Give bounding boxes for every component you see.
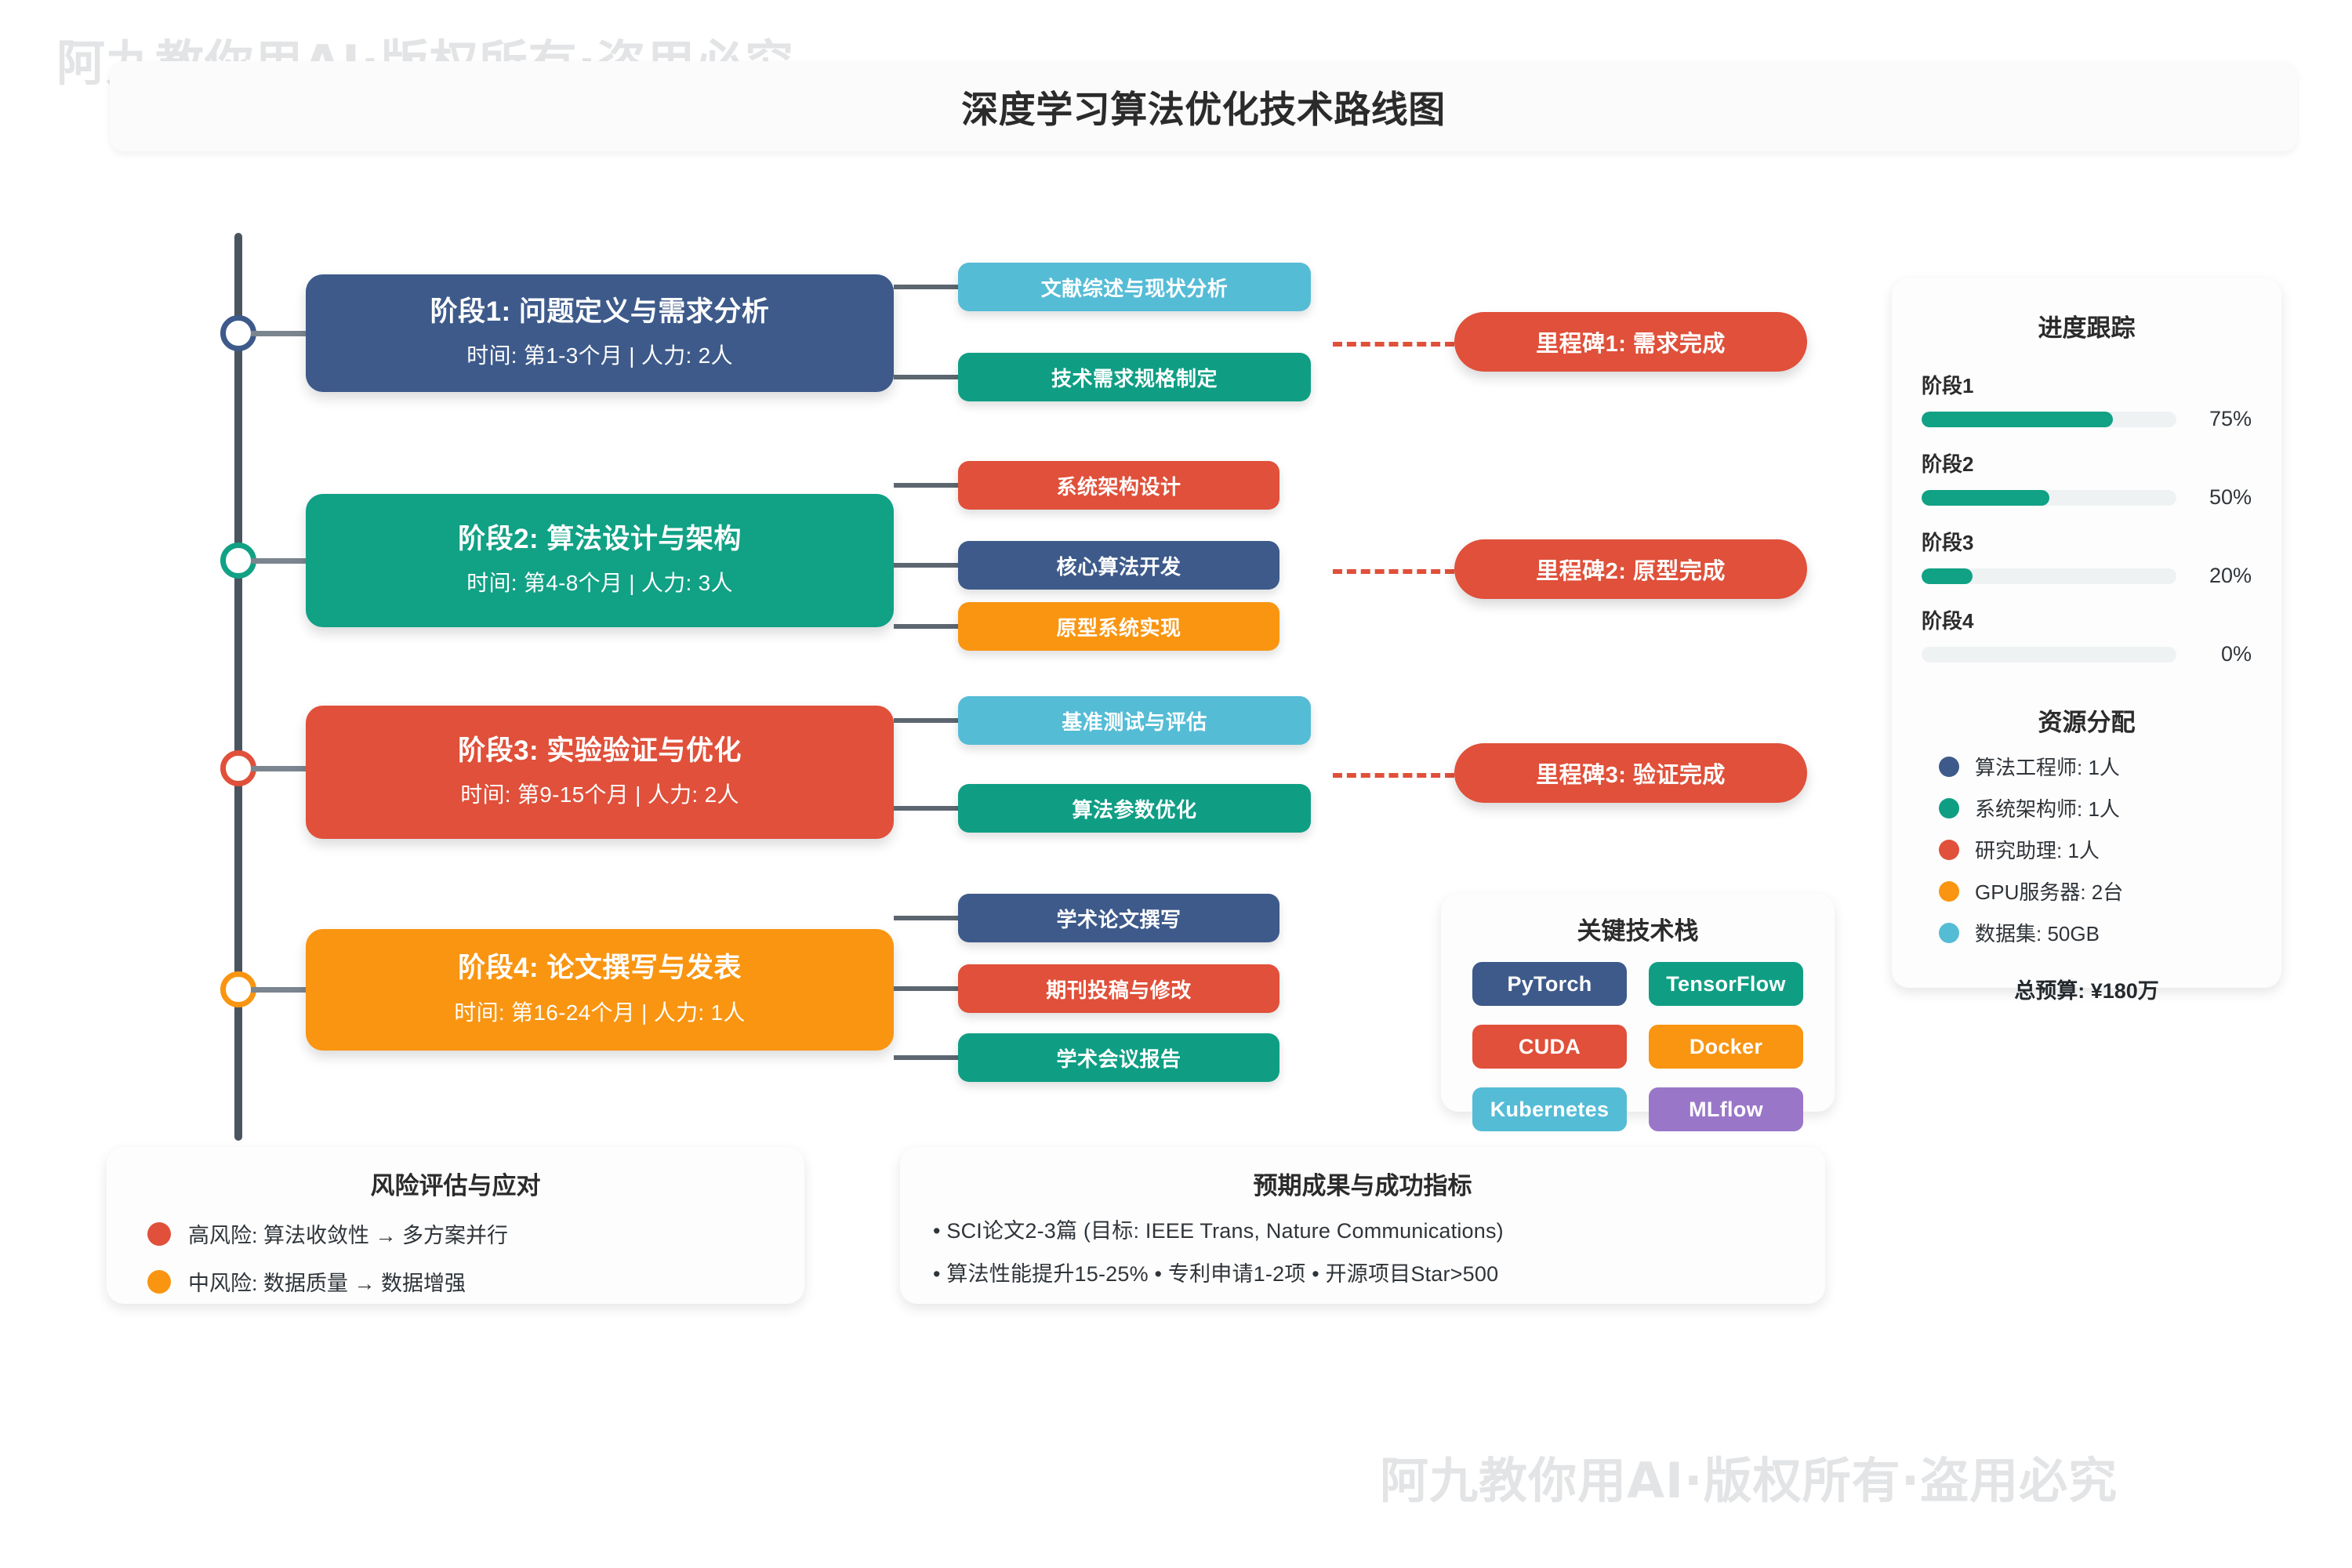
milestone-badge-1[interactable]: 里程碑1: 需求完成 xyxy=(1454,312,1807,372)
milestone-badge-2[interactable]: 里程碑2: 原型完成 xyxy=(1454,539,1807,599)
legend-dot-icon xyxy=(1939,881,1959,902)
progress-item: 阶段40% xyxy=(1922,605,2252,666)
timeline-stub-4 xyxy=(251,987,306,993)
progress-percent: 75% xyxy=(2190,407,2252,431)
progress-item: 阶段250% xyxy=(1922,448,2252,510)
outcome-list: • SCI论文2-3篇 (目标: IEEE Trans, Nature Comm… xyxy=(933,1214,1825,1287)
roadmap-canvas: 阿九教你用AI·版权所有·盗用必究 阿九教你用AI·版权所有·盗用必究 深度学习… xyxy=(0,0,2352,1568)
risk-panel: 风险评估与应对 高风险: 算法收敛性 → 多方案并行中风险: 数据质量 → 数据… xyxy=(107,1147,804,1304)
milestone-dashed-link xyxy=(1333,342,1454,347)
task-connector xyxy=(894,1055,958,1060)
progress-track xyxy=(1922,568,2176,584)
tech-stack-panel: 关键技术栈 PyTorchTensorFlowCUDADockerKuberne… xyxy=(1441,894,1835,1112)
phase-title: 阶段4: 论文撰写与发表 xyxy=(458,953,742,984)
phase-subtitle: 时间: 第4-8个月 | 人力: 3人 xyxy=(466,566,733,597)
progress-item-label: 阶段2 xyxy=(1922,448,2252,477)
phase-card-3[interactable]: 阶段3: 实验验证与优化时间: 第9-15个月 | 人力: 2人 xyxy=(306,706,894,839)
progress-track xyxy=(1922,490,2176,506)
progress-item-label: 阶段4 xyxy=(1922,605,2252,634)
task-connector xyxy=(894,718,958,723)
resource-panel-title: 资源分配 xyxy=(1892,702,2281,738)
legend-dot-icon xyxy=(1939,923,1959,943)
timeline-stub-1 xyxy=(251,331,306,336)
progress-list: 阶段175%阶段250%阶段320%阶段40% xyxy=(1922,370,2252,666)
phase-card-2[interactable]: 阶段2: 算法设计与架构时间: 第4-8个月 | 人力: 3人 xyxy=(306,494,894,627)
watermark-bottom: 阿九教你用AI·版权所有·盗用必究 xyxy=(1380,1441,2118,1512)
tech-chip[interactable]: CUDA xyxy=(1472,1025,1627,1069)
phase-subtitle: 时间: 第9-15个月 | 人力: 2人 xyxy=(460,778,739,809)
phase-card-4[interactable]: 阶段4: 论文撰写与发表时间: 第16-24个月 | 人力: 1人 xyxy=(306,929,894,1051)
outcome-panel: 预期成果与成功指标 • SCI论文2-3篇 (目标: IEEE Trans, N… xyxy=(900,1147,1825,1304)
resource-item: 研究助理: 1人 xyxy=(1939,835,2252,864)
task-connector xyxy=(894,375,958,379)
phase-card-1[interactable]: 阶段1: 问题定义与需求分析时间: 第1-3个月 | 人力: 2人 xyxy=(306,274,894,392)
phase-subtitle: 时间: 第1-3个月 | 人力: 2人 xyxy=(466,339,733,370)
milestone-badge-3[interactable]: 里程碑3: 验证完成 xyxy=(1454,743,1807,803)
task-box[interactable]: 基准测试与评估 xyxy=(958,696,1311,745)
risk-severity-dot-icon xyxy=(147,1270,171,1294)
resource-item-label: GPU服务器: 2台 xyxy=(1975,877,2123,906)
resource-item-label: 数据集: 50GB xyxy=(1975,918,2100,947)
task-box[interactable]: 系统架构设计 xyxy=(958,461,1279,510)
progress-track xyxy=(1922,412,2176,427)
risk-panel-title: 风险评估与应对 xyxy=(107,1166,804,1201)
phase-title: 阶段1: 问题定义与需求分析 xyxy=(430,296,770,328)
task-connector xyxy=(894,916,958,920)
outcome-line: • 算法性能提升15-25% • 专利申请1-2项 • 开源项目Star>500 xyxy=(933,1257,1825,1287)
progress-percent: 0% xyxy=(2190,642,2252,666)
task-connector xyxy=(894,986,958,991)
tech-panel-title: 关键技术栈 xyxy=(1441,911,1835,946)
progress-item: 阶段320% xyxy=(1922,527,2252,588)
risk-item-label: 高风险: 算法收敛性 → 多方案并行 xyxy=(188,1218,508,1249)
task-box[interactable]: 技术需求规格制定 xyxy=(958,353,1311,401)
progress-item-label: 阶段3 xyxy=(1922,527,2252,556)
progress-fill xyxy=(1922,568,1973,584)
timeline-stub-2 xyxy=(251,558,306,564)
phase-subtitle: 时间: 第16-24个月 | 人力: 1人 xyxy=(454,996,745,1027)
progress-percent: 20% xyxy=(2190,564,2252,588)
resource-item-label: 系统架构师: 1人 xyxy=(1975,793,2120,822)
resource-item: GPU服务器: 2台 xyxy=(1939,877,2252,906)
outcome-panel-title: 预期成果与成功指标 xyxy=(900,1166,1825,1201)
legend-dot-icon xyxy=(1939,757,1959,777)
progress-item: 阶段175% xyxy=(1922,370,2252,431)
tech-chip[interactable]: TensorFlow xyxy=(1649,962,1803,1006)
resource-list: 算法工程师: 1人系统架构师: 1人研究助理: 1人GPU服务器: 2台数据集:… xyxy=(1939,752,2252,947)
tech-chip[interactable]: Docker xyxy=(1649,1025,1803,1069)
risk-list: 高风险: 算法收敛性 → 多方案并行中风险: 数据质量 → 数据增强 xyxy=(147,1218,804,1297)
task-box[interactable]: 原型系统实现 xyxy=(958,602,1279,651)
resource-item-label: 算法工程师: 1人 xyxy=(1975,752,2120,781)
progress-item-label: 阶段1 xyxy=(1922,370,2252,399)
legend-dot-icon xyxy=(1939,840,1959,860)
tech-chip-grid: PyTorchTensorFlowCUDADockerKubernetesMLf… xyxy=(1472,962,1803,1131)
page-title: 深度学习算法优化技术路线图 xyxy=(110,61,2297,151)
phase-title: 阶段3: 实验验证与优化 xyxy=(458,735,742,767)
progress-track xyxy=(1922,647,2176,662)
task-box[interactable]: 期刊投稿与修改 xyxy=(958,964,1279,1013)
milestone-dashed-link xyxy=(1333,773,1454,778)
task-connector xyxy=(894,806,958,811)
risk-item: 高风险: 算法收敛性 → 多方案并行 xyxy=(147,1218,804,1249)
progress-fill xyxy=(1922,412,2113,427)
risk-item: 中风险: 数据质量 → 数据增强 xyxy=(147,1266,804,1297)
progress-panel-title: 进度跟踪 xyxy=(1892,308,2281,343)
resource-item: 算法工程师: 1人 xyxy=(1939,752,2252,781)
task-box[interactable]: 算法参数优化 xyxy=(958,784,1311,833)
risk-severity-dot-icon xyxy=(147,1222,171,1246)
task-box[interactable]: 学术会议报告 xyxy=(958,1033,1279,1082)
progress-fill xyxy=(1922,490,2049,506)
task-connector xyxy=(894,285,958,289)
resource-item: 系统架构师: 1人 xyxy=(1939,793,2252,822)
task-box[interactable]: 文献综述与现状分析 xyxy=(958,263,1311,311)
milestone-dashed-link xyxy=(1333,569,1454,574)
total-budget: 总预算: ¥180万 xyxy=(1892,974,2281,1004)
timeline-stub-3 xyxy=(251,766,306,771)
tech-chip[interactable]: PyTorch xyxy=(1472,962,1627,1006)
progress-resource-panel: 进度跟踪 阶段175%阶段250%阶段320%阶段40% 资源分配 算法工程师:… xyxy=(1892,278,2281,988)
resource-item: 数据集: 50GB xyxy=(1939,918,2252,947)
progress-percent: 50% xyxy=(2190,485,2252,510)
legend-dot-icon xyxy=(1939,798,1959,818)
phase-title: 阶段2: 算法设计与架构 xyxy=(458,524,742,555)
task-box[interactable]: 学术论文撰写 xyxy=(958,894,1279,942)
resource-item-label: 研究助理: 1人 xyxy=(1975,835,2100,864)
tech-chip[interactable]: Kubernetes xyxy=(1472,1087,1627,1131)
task-connector xyxy=(894,483,958,488)
outcome-line: • SCI论文2-3篇 (目标: IEEE Trans, Nature Comm… xyxy=(933,1214,1825,1244)
tech-chip[interactable]: MLflow xyxy=(1649,1087,1803,1131)
risk-item-label: 中风险: 数据质量 → 数据增强 xyxy=(188,1266,466,1297)
task-connector xyxy=(894,563,958,568)
task-connector xyxy=(894,624,958,629)
task-box[interactable]: 核心算法开发 xyxy=(958,541,1279,590)
